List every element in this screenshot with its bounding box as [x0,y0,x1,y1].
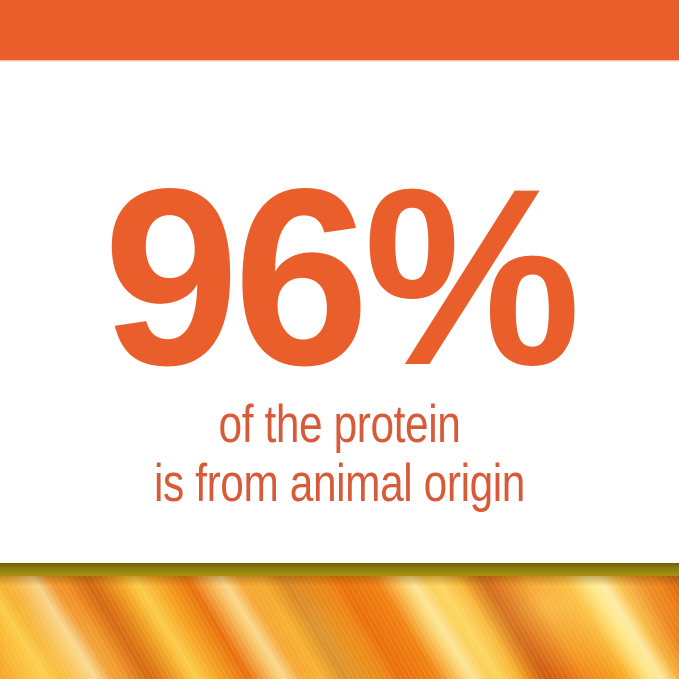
top-orange-banner [0,0,679,60]
photo-top-shading [0,576,679,586]
caption-line-1: of the protein [68,395,611,454]
headline-percentage: 96% [104,178,576,377]
shredded-protein-strands-photo [0,576,679,679]
caption-block: of the protein is from animal origin [0,395,679,514]
caption-line-2: is from animal origin [68,454,611,513]
content-stage: 96% of the protein is from animal origin [0,62,679,563]
photo-band-fibre [0,576,679,679]
olive-divider-stripe [0,563,679,576]
protein-origin-infographic: 96% of the protein is from animal origin [0,0,679,679]
headline-container: 96% [0,178,679,378]
